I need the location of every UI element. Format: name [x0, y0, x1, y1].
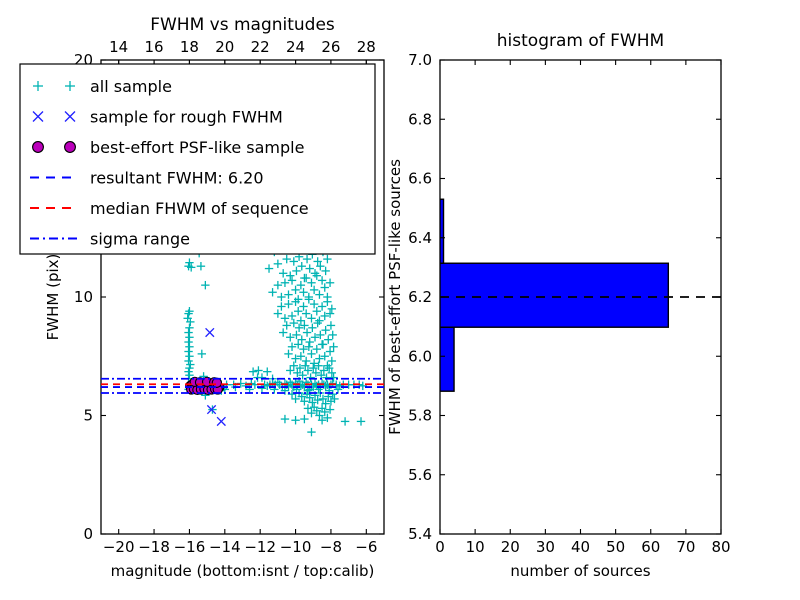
hist-y-tick-label: 7.0: [408, 51, 432, 69]
hist-y-tick-label: 6.0: [408, 347, 432, 365]
legend-label: resultant FWHM: 6.20: [90, 169, 264, 188]
hist-y-tick-label: 6.4: [408, 229, 432, 247]
hist-y-tick-label: 6.8: [408, 110, 432, 128]
hist-x-tick-label: 80: [711, 538, 730, 556]
top-x-tick-label: 20: [215, 38, 234, 56]
legend: all samplesample for rough FWHMbest-effo…: [20, 64, 375, 254]
top-x-tick-label: 28: [357, 38, 376, 56]
hist-x-tick-label: 60: [641, 538, 660, 556]
histogram-bar: [440, 327, 454, 391]
hist-y-tick-label: 5.4: [408, 525, 432, 543]
hist-y-tick-label: 5.6: [408, 466, 432, 484]
hist-x-tick-label: 10: [466, 538, 485, 556]
x-tick-label: −18: [138, 538, 170, 556]
scatter-ylabel: FWHM (pix): [44, 254, 62, 341]
histogram-ylabel: FWHM of best-effort PSF-like sources: [386, 159, 404, 435]
histogram-bar: [440, 263, 668, 327]
x-tick-label: −8: [320, 538, 342, 556]
histogram-bar: [440, 199, 444, 263]
scatter-title: FWHM vs magnitudes: [150, 15, 335, 35]
top-x-tick-label: 18: [180, 38, 199, 56]
hist-x-tick-label: 40: [571, 538, 590, 556]
histogram-panel: 01020304050607080number of sources5.45.6…: [386, 31, 731, 580]
top-x-tick-label: 24: [286, 38, 305, 56]
histogram-title: histogram of FWHM: [497, 31, 664, 51]
top-x-tick-label: 22: [251, 38, 270, 56]
legend-label: sample for rough FWHM: [90, 108, 283, 127]
hist-x-tick-label: 20: [501, 538, 520, 556]
series-circle: [186, 377, 224, 394]
y-tick-label: 5: [83, 407, 93, 425]
x-tick-label: −12: [244, 538, 276, 556]
histogram-xlabel: number of sources: [510, 562, 650, 580]
top-x-tick-label: 16: [145, 38, 164, 56]
circle-marker: [33, 142, 44, 153]
scatter-xlabel: magnitude (bottom:isnt / top:calib): [111, 562, 375, 580]
y-tick-label: 10: [74, 288, 93, 306]
top-x-tick-label: 26: [321, 38, 340, 56]
hist-y-tick-label: 6.6: [408, 170, 432, 188]
hist-x-tick-label: 70: [676, 538, 695, 556]
x-tick-label: −10: [280, 538, 312, 556]
hist-y-tick-label: 5.8: [408, 407, 432, 425]
x-tick-label: −6: [355, 538, 377, 556]
circle-marker: [65, 142, 76, 153]
x-tick-label: −14: [209, 538, 241, 556]
hist-x-tick-label: 30: [536, 538, 555, 556]
legend-label: median FHWM of sequence: [90, 199, 309, 218]
x-tick-label: −20: [103, 538, 135, 556]
y-tick-label: 0: [83, 525, 93, 543]
x-tick-label: −16: [174, 538, 206, 556]
legend-label: all sample: [90, 77, 172, 96]
hist-y-tick-label: 6.2: [408, 288, 432, 306]
hist-x-tick-label: 0: [435, 538, 445, 556]
legend-label: sigma range: [90, 230, 190, 249]
figure-canvas: −20−18−16−14−12−10−8−6magnitude (bottom:…: [0, 0, 800, 600]
matplotlib-figure: −20−18−16−14−12−10−8−6magnitude (bottom:…: [0, 0, 800, 600]
top-x-tick-label: 14: [109, 38, 128, 56]
hist-x-tick-label: 50: [606, 538, 625, 556]
legend-label: best-effort PSF-like sample: [90, 138, 304, 157]
legend-box: [20, 64, 375, 254]
